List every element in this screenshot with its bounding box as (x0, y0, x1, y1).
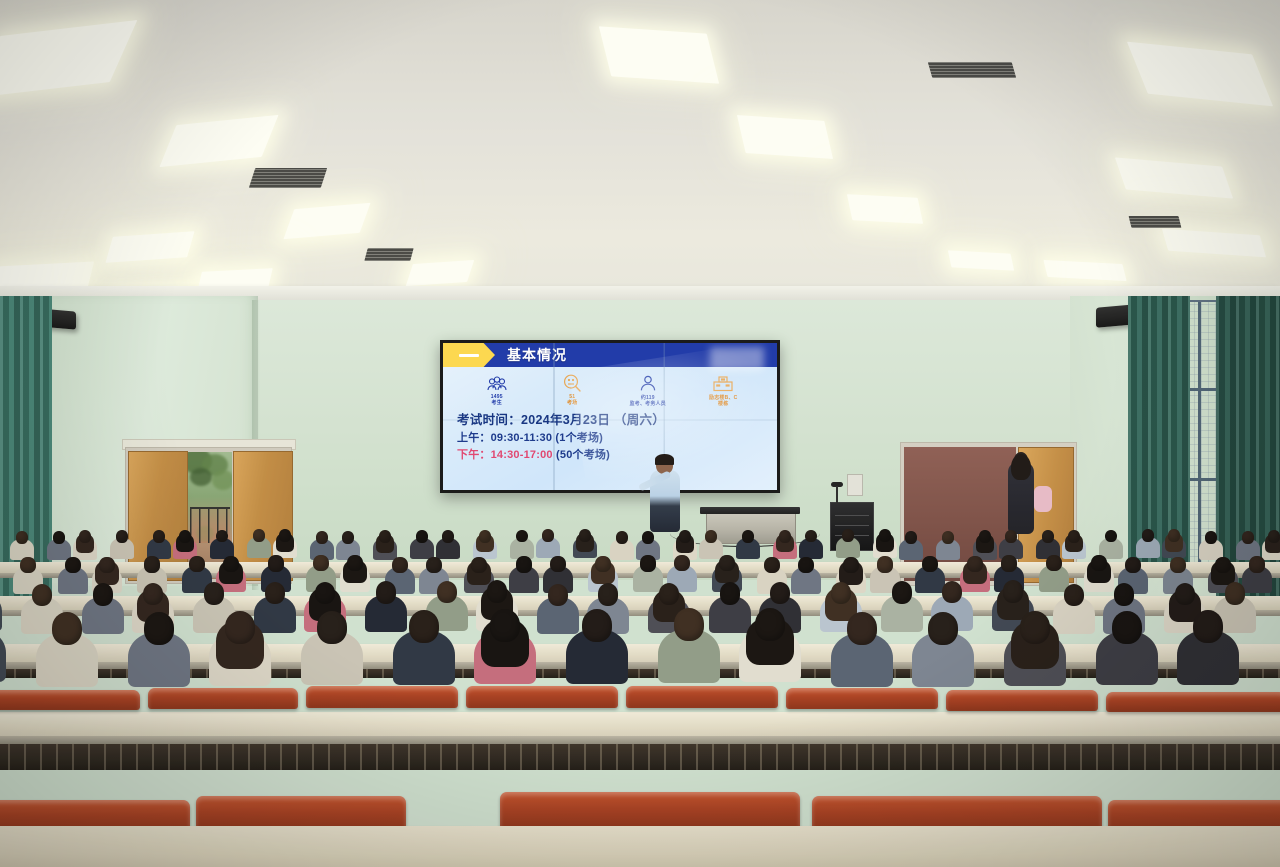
audience-member-head (442, 530, 454, 543)
audience-member-head (847, 612, 878, 645)
audience-member-head (1020, 611, 1051, 644)
audience-member-head (479, 530, 491, 543)
building-icon (712, 374, 734, 392)
audience-member-head (1168, 529, 1180, 542)
audience-member-head (313, 555, 328, 571)
audience-member-head (879, 529, 891, 542)
audience-member-head (471, 557, 486, 573)
audience-member-head (1064, 584, 1085, 606)
audience-member-head (1170, 557, 1185, 573)
stat-number: 励志楼B、C (709, 394, 737, 401)
audience-member-head (755, 608, 786, 641)
audience-member-head (116, 530, 128, 543)
audience-member-head (798, 557, 813, 573)
stat-number: 约119 (641, 394, 655, 401)
stat-caption: 考场 (567, 400, 577, 406)
audience-member-head (843, 557, 858, 573)
seat-back[interactable] (946, 690, 1098, 711)
audience-member-head (905, 531, 917, 544)
stat-staff: 约119 监考、考务人员 (610, 374, 686, 407)
presentation-slide: 基本情况 1495 考生 (443, 343, 777, 490)
audience-member-head (65, 557, 80, 573)
exam-badge-icon (562, 374, 582, 392)
audience-member-head (595, 556, 610, 572)
audience-member-head (316, 531, 328, 544)
audience-member-head (1175, 583, 1196, 605)
audience-member-head (598, 583, 619, 605)
audience-member-head (204, 582, 225, 604)
audience-member-head (99, 557, 114, 573)
desk-row-front (0, 826, 1280, 867)
audience-member-head (1125, 557, 1140, 573)
video-wall[interactable]: 基本情况 1495 考生 (440, 340, 780, 493)
audience-member-head (416, 530, 428, 543)
audience-member-head (770, 582, 791, 604)
podium-top-panel (700, 507, 800, 514)
audience-member-head (842, 529, 854, 542)
slide-stat-row: 1495 考生 51 考场 (443, 367, 777, 409)
ceiling-light-panel (948, 250, 1014, 270)
seat-back[interactable] (0, 690, 140, 710)
seat-back[interactable] (786, 688, 938, 709)
afternoon-note: (50个考场) (556, 449, 610, 461)
audience-member-head (490, 609, 521, 642)
stat-buildings: 励志楼B、C 楼栋 (686, 374, 762, 407)
audience-member-head (967, 556, 982, 572)
audience-member-head (216, 530, 228, 543)
audience-member-head (1068, 530, 1080, 543)
stat-candidates: 1495 考生 (459, 374, 535, 407)
audience-member-head (144, 612, 175, 645)
audience-member-head (674, 608, 705, 641)
ceiling-light-panel (847, 194, 923, 224)
slide-title: 基本情况 (507, 345, 567, 365)
seat-back[interactable] (466, 686, 618, 708)
audience-member-head (582, 609, 613, 642)
audience-member-head (189, 556, 204, 572)
audience-member-head (315, 582, 336, 604)
audience-member-head (1105, 530, 1117, 543)
desk-row-d (0, 712, 1280, 736)
audience-member-head (1215, 557, 1230, 573)
audience-member-head (52, 612, 83, 645)
audience-member-head (928, 612, 959, 645)
morning-label: 上午： (457, 432, 491, 444)
ceiling-air-vent (928, 62, 1017, 78)
audience-member-head (942, 531, 954, 544)
presenter-hair (655, 454, 674, 465)
audience-member-head (705, 530, 717, 543)
audience-member-body (0, 628, 6, 682)
seat-back[interactable] (306, 686, 458, 708)
pink-bag (1034, 486, 1052, 512)
lecture-hall-photo: 基本情况 1495 考生 (0, 0, 1280, 867)
stat-caption: 监考、考务人员 (630, 401, 666, 407)
seat-back[interactable] (626, 686, 778, 708)
ceiling-air-vent (364, 248, 413, 261)
audience-member-head (1225, 582, 1246, 604)
audience-member-head (1249, 556, 1264, 572)
audience-member-head (179, 530, 191, 543)
audience-member-head (279, 529, 291, 542)
audience-member-head (1205, 531, 1217, 544)
assistant-hair (1011, 454, 1031, 480)
audience-member-head (1042, 530, 1054, 543)
audience-member-head (579, 529, 591, 542)
audience-member-head (516, 556, 531, 572)
ceiling-light-panel (737, 115, 833, 159)
seat-back-front[interactable] (500, 792, 800, 830)
audience-member-head (779, 530, 791, 543)
audience-member-head (223, 556, 238, 572)
audience-member-head (764, 557, 779, 573)
audience-member-head (253, 529, 265, 542)
audience-member-head (143, 583, 164, 605)
right-doorway-opening (904, 447, 1016, 581)
audience-member-head (1091, 555, 1106, 571)
desk-under-d (0, 744, 1280, 770)
audience-member-head (153, 530, 165, 543)
audience-member-head (877, 556, 892, 572)
audience-member-head (1268, 530, 1280, 543)
audience-member-head (942, 581, 963, 603)
audience-member-head (979, 530, 991, 543)
audience-member-head (487, 580, 508, 602)
group-people-icon (486, 374, 508, 392)
audience-member-head (922, 556, 937, 572)
audience-member-head (719, 555, 734, 571)
afternoon-time: 14:30-17:00 (491, 449, 553, 461)
audience-member-head (16, 531, 28, 544)
audience-member-head (1114, 583, 1135, 605)
audience-member-head (642, 531, 654, 544)
audience-member-head (79, 530, 91, 543)
curtain-right-inner (1128, 296, 1190, 566)
audience-member-head (53, 531, 65, 544)
audience-member-head (426, 557, 441, 573)
morning-session-line: 上午：09:30-11:30 (1个考场) (457, 430, 777, 447)
audience-member-head (93, 583, 114, 605)
audience-member-head (265, 582, 286, 604)
slide-tag-arrow-icon (443, 343, 495, 367)
desk-front-c (0, 662, 1280, 669)
audience-member-head (32, 584, 53, 606)
audience-member-head (542, 529, 554, 542)
desk-under-c (0, 669, 1280, 678)
audience-member-head (1242, 531, 1254, 544)
audience-member-head (1005, 530, 1017, 543)
morning-note: (1个考场) (555, 432, 603, 444)
stat-caption: 考生 (492, 400, 502, 406)
dash-icon (459, 354, 479, 357)
slide-text-block: 考试时间：2024年3月23日 （周六） 上午：09:30-11:30 (1个考… (443, 409, 777, 464)
audience-member-head (342, 531, 354, 544)
morning-time: 09:30-11:30 (491, 432, 553, 444)
microphone-stand (836, 486, 838, 504)
single-person-icon (639, 374, 657, 392)
audience-member-head (20, 557, 35, 573)
audience-member-head (1046, 555, 1061, 571)
audience-member-head (317, 611, 348, 644)
audience-member-head (347, 555, 362, 571)
audience-member-head (674, 555, 689, 571)
afternoon-session-line: 下午：14:30-17:00 (50个考场) (457, 447, 777, 464)
desk-front-d (0, 736, 1280, 744)
seat-back[interactable] (148, 688, 298, 709)
audience-member-head (640, 555, 655, 571)
audience-member-head (550, 556, 565, 572)
ceiling-light-panel (599, 26, 719, 83)
audience-member-head (379, 530, 391, 543)
audience-member-head (720, 582, 741, 604)
audience-member-head (376, 581, 397, 603)
seat-back[interactable] (1106, 692, 1280, 712)
slide-header: 基本情况 (443, 343, 777, 367)
ceiling-air-vent (1129, 216, 1182, 228)
stat-caption: 楼栋 (718, 401, 728, 407)
audience-member-head (268, 555, 283, 571)
ceiling-air-vent (249, 168, 327, 188)
exam-time-line: 考试时间：2024年3月23日 （周六） (457, 411, 777, 430)
audience-member-head (225, 611, 256, 644)
stat-exam-rooms: 51 考场 (535, 374, 611, 407)
afternoon-label: 下午： (457, 449, 491, 461)
audience-member-head (892, 581, 913, 603)
audience-member-head (742, 530, 754, 543)
audience-member-head (659, 583, 680, 605)
audience-member-head (831, 582, 852, 604)
audience-member-head (1001, 555, 1016, 571)
audience-member-head (437, 581, 458, 603)
audience-member-head (616, 531, 628, 544)
audience-member-head (1003, 580, 1024, 602)
audience-member-head (1112, 611, 1143, 644)
audience-member-head (805, 530, 817, 543)
audience-member-head (548, 584, 569, 606)
audience-member-head (516, 530, 528, 543)
audience-member-head (409, 610, 440, 643)
audience-member-head (392, 557, 407, 573)
audience-member-head (1142, 529, 1154, 542)
audience-member-head (679, 530, 691, 543)
wall-control-box (847, 474, 863, 496)
audience-member-head (1193, 610, 1224, 643)
audience-member-head (144, 556, 159, 572)
desk-row-c (0, 644, 1280, 662)
